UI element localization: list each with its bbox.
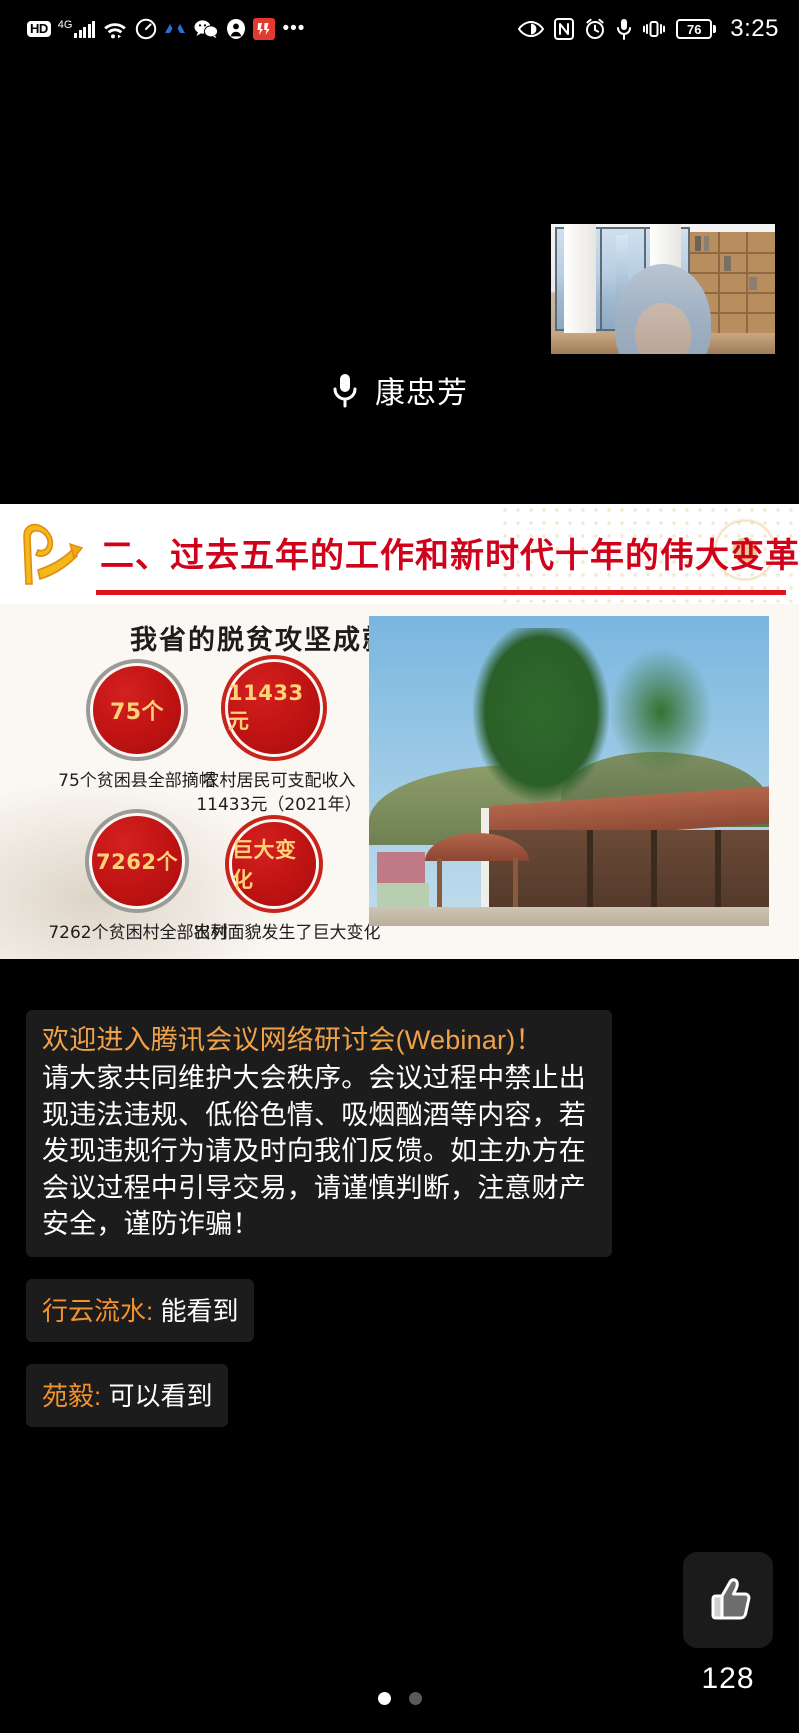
chat-text-1: 能看到 xyxy=(160,1296,238,1326)
like-control[interactable]: 128 xyxy=(683,1552,773,1696)
video-stage[interactable]: 康忠芳 xyxy=(0,58,799,450)
slide-header: 二、过去五年的工作和新时代十年的伟大变革 xyxy=(0,504,799,604)
slide-title: 二、过去五年的工作和新时代十年的伟大变革 xyxy=(100,528,799,577)
chat-overlay: 欢迎进入腾讯会议网络研讨会(Webinar)！ 请大家共同维护大会秩序。会议过程… xyxy=(0,1010,799,1427)
stat-caption-4: 农村面貌发生了巨大变化 xyxy=(180,922,394,945)
chat-sender-1: 行云流水: xyxy=(42,1296,153,1326)
page-dot-2[interactable] xyxy=(409,1692,422,1705)
eye-comfort-icon xyxy=(518,19,544,39)
status-bar-left: HD 4G ••• xyxy=(27,18,305,40)
stat-value-1: 75个 xyxy=(93,666,181,754)
participant-name-label: 康忠芳 xyxy=(375,368,468,412)
battery-tip xyxy=(713,25,716,33)
stat-caption-2b: 11433元（2021年） xyxy=(182,794,376,817)
stat-bubble-2: 11433元 xyxy=(228,662,320,754)
alarm-icon xyxy=(584,18,606,40)
chat-sender-2: 苑毅: xyxy=(42,1381,101,1411)
thumbs-up-icon xyxy=(700,1572,756,1628)
battery-icon: 76 xyxy=(676,19,716,39)
stat-bubble-4: 巨大变化 xyxy=(232,822,316,906)
stat-bubble-3: 7262个 xyxy=(92,816,182,906)
signal-4g-icon: 4G xyxy=(58,21,96,38)
microphone-icon xyxy=(616,18,632,40)
network-type-label: 4G xyxy=(58,21,73,30)
wifi-icon xyxy=(102,19,128,39)
hd-icon: HD xyxy=(27,21,51,37)
status-bar-right: 76 3:25 xyxy=(518,15,779,43)
like-button[interactable] xyxy=(683,1552,773,1648)
slide-photo xyxy=(369,616,769,926)
red-app-icon xyxy=(253,18,275,40)
more-dots-icon: ••• xyxy=(282,24,305,34)
chat-message-2: 苑毅: 可以看到 xyxy=(26,1364,228,1427)
nfc-icon xyxy=(554,18,574,40)
chat-message-1: 行云流水: 能看到 xyxy=(26,1279,254,1342)
microphone-icon xyxy=(331,372,359,408)
data-saver-icon xyxy=(135,18,157,40)
shared-slide[interactable]: 二、过去五年的工作和新时代十年的伟大变革 我省的脱贫攻坚成就 75个 75个贫困… xyxy=(0,504,799,959)
title-underline xyxy=(96,590,786,595)
announcement-message: 欢迎进入腾讯会议网络研讨会(Webinar)！ 请大家共同维护大会秩序。会议过程… xyxy=(26,1010,612,1257)
signal-bars xyxy=(74,21,95,38)
participant-video-thumbnail[interactable] xyxy=(551,224,775,354)
vibrate-icon xyxy=(642,18,666,40)
slide-body: 我省的脱贫攻坚成就 75个 75个贫困县全部摘帽 11433元 农村居民可支配收… xyxy=(0,604,799,959)
announcement-body: 请大家共同维护大会秩序。会议过程中禁止出现违法违规、低俗色情、吸烟酗酒等内容，若… xyxy=(42,1063,586,1239)
stat-value-4: 巨大变化 xyxy=(232,822,316,906)
contact-app-icon xyxy=(226,18,246,40)
status-bar: HD 4G ••• xyxy=(0,0,799,58)
stat-value-3: 7262个 xyxy=(92,816,182,906)
app-blue-icon xyxy=(164,20,186,38)
participant-name-row: 康忠芳 xyxy=(0,368,799,412)
chat-text-2: 可以看到 xyxy=(108,1381,212,1411)
stat-caption-2a: 农村居民可支配收入 xyxy=(182,770,376,793)
page-indicator[interactable] xyxy=(0,1692,799,1705)
page-dot-1[interactable] xyxy=(378,1692,391,1705)
party-emblem-icon xyxy=(8,514,94,596)
announcement-highlight: 欢迎进入腾讯会议网络研讨会(Webinar)！ xyxy=(42,1022,596,1058)
battery-level: 76 xyxy=(676,19,712,39)
like-count-label: 128 xyxy=(683,1662,773,1696)
meeting-screen: HD 4G ••• xyxy=(0,0,799,1733)
slide-subheading: 我省的脱贫攻坚成就 xyxy=(130,618,391,657)
stat-bubble-1: 75个 xyxy=(93,666,181,754)
wechat-icon xyxy=(193,19,219,39)
stat-value-2: 11433元 xyxy=(228,662,320,754)
clock-label: 3:25 xyxy=(730,15,779,43)
